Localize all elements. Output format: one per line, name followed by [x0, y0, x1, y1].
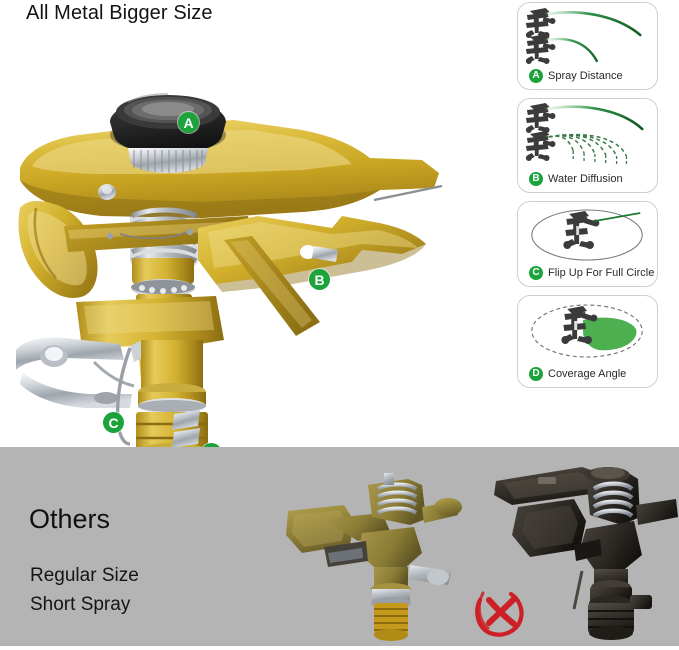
- hero-product-image: A B C D: [2, 40, 462, 440]
- callout-panel-list: A Spray Distance: [517, 2, 658, 396]
- water-diffusion-art: [518, 99, 657, 172]
- callout-badge-d: D: [529, 367, 543, 381]
- callout-text-a: Spray Distance: [548, 70, 623, 82]
- comparison-line-regular-size: Regular Size: [30, 564, 139, 587]
- callout-label-b: B Water Diffusion: [518, 172, 657, 192]
- hero-badge-a[interactable]: A: [178, 112, 199, 133]
- comparison-heading: Others: [29, 504, 110, 534]
- callout-label-a: A Spray Distance: [518, 69, 657, 89]
- comparison-line-short-spray: Short Spray: [30, 593, 130, 616]
- callout-panel-water-diffusion[interactable]: B Water Diffusion: [517, 98, 658, 193]
- red-x-mark-icon: [472, 580, 532, 638]
- callout-label-d: D Coverage Angle: [518, 367, 657, 387]
- short-spray-arc: [548, 39, 597, 61]
- coverage-sector: [583, 318, 636, 351]
- hero-badge-b[interactable]: B: [309, 269, 330, 290]
- brass-regular-sprinkler-image: [262, 449, 462, 645]
- full-circle-art: [518, 202, 657, 266]
- comparison-section: Others Regular Size Short Spray: [0, 447, 679, 646]
- sprinkler-silhouette: [563, 211, 599, 249]
- callout-label-c: C Flip Up For Full Circle: [518, 266, 657, 286]
- callout-text-b: Water Diffusion: [548, 173, 623, 185]
- coverage-angle-art: [518, 296, 657, 367]
- callout-panel-spray-distance[interactable]: A Spray Distance: [517, 2, 658, 90]
- long-spray-arc: [548, 12, 641, 35]
- callout-text-d: Coverage Angle: [548, 368, 626, 380]
- callout-badge-a: A: [529, 69, 543, 83]
- callout-badge-c: C: [529, 266, 543, 280]
- top-product-section: All Metal Bigger Size: [0, 0, 679, 447]
- callout-panel-full-circle[interactable]: C Flip Up For Full Circle: [517, 201, 658, 287]
- hero-mount-bracket: [16, 338, 146, 409]
- hero-brass-body: [136, 340, 208, 461]
- diffusion-arcs: [549, 135, 627, 156]
- callout-text-c: Flip Up For Full Circle: [548, 267, 654, 279]
- solid-stream-arc: [548, 107, 643, 129]
- callout-badge-b: B: [529, 172, 543, 186]
- page-title: All Metal Bigger Size: [26, 1, 213, 25]
- spray-distance-art: [518, 3, 657, 69]
- sprinkler-silhouette-bottom: [526, 131, 556, 161]
- hero-badge-c[interactable]: C: [103, 412, 124, 433]
- callout-panel-coverage-angle[interactable]: D Coverage Angle: [517, 295, 658, 388]
